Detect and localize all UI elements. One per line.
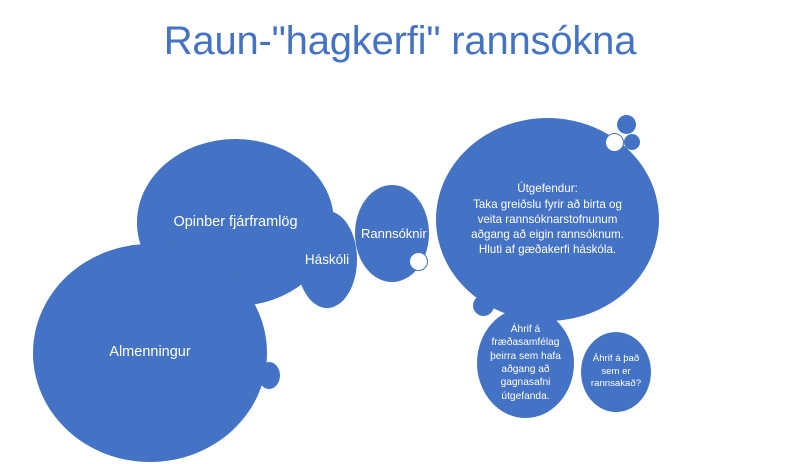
page-title: Raun-"hagkerfi" rannsókna	[0, 18, 800, 64]
decorative-dot-middle-icon	[473, 295, 494, 316]
bubble-publishers[interactable]: Útgefendur: Taka greiðslu fyrir að birta…	[436, 118, 659, 321]
bubble-scholarly-community-impact[interactable]: Áhrif á fræðasamfélag þeirra sem hafa að…	[477, 308, 574, 418]
bubble-university-label: Háskóli	[297, 251, 357, 269]
bubble-research-subject-impact-label: Áhrif á það sem er rannsakað?	[581, 353, 651, 391]
bubble-public[interactable]: Almenningur	[33, 244, 267, 462]
bubble-university[interactable]: Háskóli	[297, 211, 357, 308]
decorative-ring-research-icon	[409, 252, 428, 271]
decorative-dot-top-right-icon	[617, 115, 636, 134]
bubble-scholarly-community-impact-label: Áhrif á fræðasamfélag þeirra sem hafa að…	[477, 323, 574, 404]
bubble-research-label: Rannsóknir	[355, 225, 429, 242]
decorative-dot-upper-right-icon	[624, 134, 640, 150]
decorative-ring-upper-icon	[605, 133, 624, 152]
bubble-publishers-label: Útgefendur: Taka greiðslu fyrir að birta…	[436, 181, 659, 257]
bubble-public-label: Almenningur	[33, 343, 267, 362]
bubble-research-subject-impact[interactable]: Áhrif á það sem er rannsakað?	[581, 332, 651, 412]
slide-canvas: Raun-"hagkerfi" rannsókna Opinber fjárfr…	[0, 0, 800, 464]
